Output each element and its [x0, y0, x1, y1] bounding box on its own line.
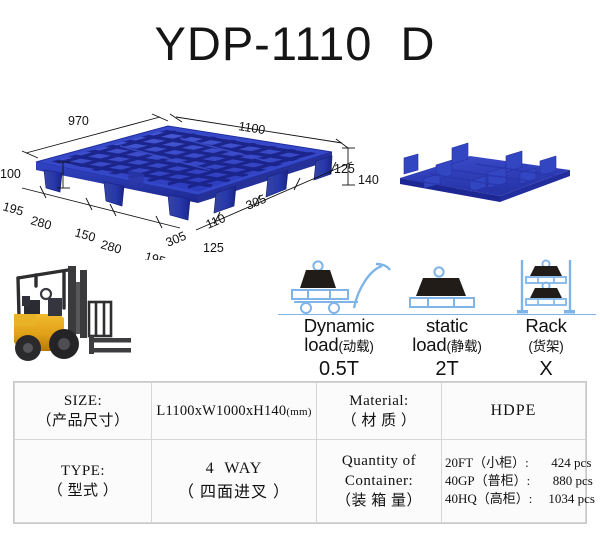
cell-quantity-label: Quantity of Container: （装 箱 量） — [317, 440, 442, 523]
static-load-value: 2T — [394, 357, 500, 381]
type-value-cn: （ 四面进叉 ） — [155, 481, 313, 505]
dim-970: 970 — [68, 114, 89, 128]
container-type: 20FT（小柜）: — [445, 455, 529, 470]
container-unit: pcs — [571, 455, 592, 470]
table-row-type-quantity: TYPE: （ 型式 ） 4 WAY （ 四面进叉 ） Quantity of … — [15, 440, 586, 523]
cell-type-label: TYPE: （ 型式 ） — [15, 440, 152, 523]
dynamic-load-value: 0.5T — [278, 357, 400, 381]
pallet-top-view-art — [36, 126, 332, 220]
quantity-label-cn: （装 箱 量） — [320, 491, 438, 511]
quantity-label-line2: Container: — [320, 471, 438, 491]
quantity-row: 40GP（普柜）:880 pcs — [445, 472, 595, 490]
load-capacity-group: Dynamic load(动载) 0.5T static load(静载) 2T — [278, 258, 596, 376]
cell-quantity-value: 20FT（小柜）:424 pcs40GP（普柜）:880 pcs40HQ（高柜）… — [442, 440, 586, 523]
cell-material-label: Material: （ 材 质 ） — [317, 383, 442, 440]
cell-size-value: L1100xW1000xH140(mm) — [152, 383, 317, 440]
dim-305-b: 305 — [164, 229, 189, 250]
static-load-icon — [394, 258, 500, 316]
dynamic-load-line1: Dynamic — [278, 316, 400, 335]
size-label-en: SIZE: — [18, 391, 148, 411]
type-value-en: 4 WAY — [155, 457, 313, 481]
cell-material-value: HDPE — [442, 383, 586, 440]
type-label-en: TYPE: — [18, 461, 148, 481]
container-type: 40HQ（高柜）: — [445, 491, 532, 506]
type-label-cn: （ 型式 ） — [18, 481, 148, 501]
rack-load-line1: Rack — [498, 316, 594, 335]
static-load-line1: static — [394, 316, 500, 335]
dim-140: 140 — [358, 173, 379, 187]
load-static: static load(静载) 2T — [394, 258, 500, 381]
static-load-line2: load(静载) — [394, 335, 500, 356]
dim-150: 150 — [73, 225, 97, 244]
container-type: 40GP（普柜）: — [445, 473, 530, 488]
cell-size-label: SIZE: （产品尺寸） — [15, 383, 152, 440]
technical-drawing: 970 1100 100 195 280 150 280 195 140 125… — [0, 100, 600, 260]
rack-load-icon — [498, 258, 594, 316]
dim-195-left: 195 — [1, 199, 25, 218]
container-unit: pcs — [572, 473, 593, 488]
dim-195-right: 195 — [143, 249, 167, 260]
material-label-cn: （ 材 质 ） — [320, 411, 438, 431]
quantity-row: 20FT（小柜）:424 pcs — [445, 454, 595, 472]
specification-table: SIZE: （产品尺寸） L1100xW1000xH140(mm) Materi… — [13, 381, 587, 524]
dim-280-a: 280 — [29, 213, 53, 232]
dim-1100: 1100 — [238, 119, 267, 137]
rack-load-line2: (货架) — [498, 335, 594, 356]
load-dynamic: Dynamic load(动载) 0.5T — [278, 258, 400, 381]
material-value: HDPE — [491, 402, 537, 419]
dim-280-b: 280 — [99, 237, 123, 256]
dim-125-right: 125 — [334, 162, 355, 176]
table-row-size-material: SIZE: （产品尺寸） L1100xW1000xH140(mm) Materi… — [15, 383, 586, 440]
size-unit: (mm) — [286, 406, 311, 418]
quantity-label-line1: Quantity of — [320, 451, 438, 471]
container-count: 424 — [529, 454, 571, 472]
dynamic-load-icon — [278, 258, 400, 316]
cell-type-value: 4 WAY （ 四面进叉 ） — [152, 440, 317, 523]
dim-305-a: 305 — [244, 192, 269, 213]
dim-125-left: 125 — [203, 241, 224, 255]
load-rack: Rack (货架) X — [498, 258, 594, 381]
forklift-photo — [6, 256, 138, 376]
page-title: YDP-1110 D — [0, 20, 600, 68]
size-value: L1100xW1000xH140 — [156, 403, 286, 419]
rack-load-value: X — [498, 357, 594, 381]
container-unit: pcs — [574, 491, 595, 506]
material-label-en: Material: — [320, 391, 438, 411]
quantity-row: 40HQ（高柜）:1034 pcs — [445, 490, 595, 508]
dynamic-load-line2: load(动载) — [278, 335, 400, 356]
size-label-cn: （产品尺寸） — [18, 411, 148, 431]
pallet-bottom-view-art — [400, 143, 570, 202]
quantity-list: 20FT（小柜）:424 pcs40GP（普柜）:880 pcs40HQ（高柜）… — [445, 454, 595, 508]
container-count: 880 — [530, 472, 572, 490]
container-count: 1034 — [532, 490, 574, 508]
dim-110: 110 — [204, 211, 228, 232]
dim-100: 100 — [0, 167, 21, 181]
